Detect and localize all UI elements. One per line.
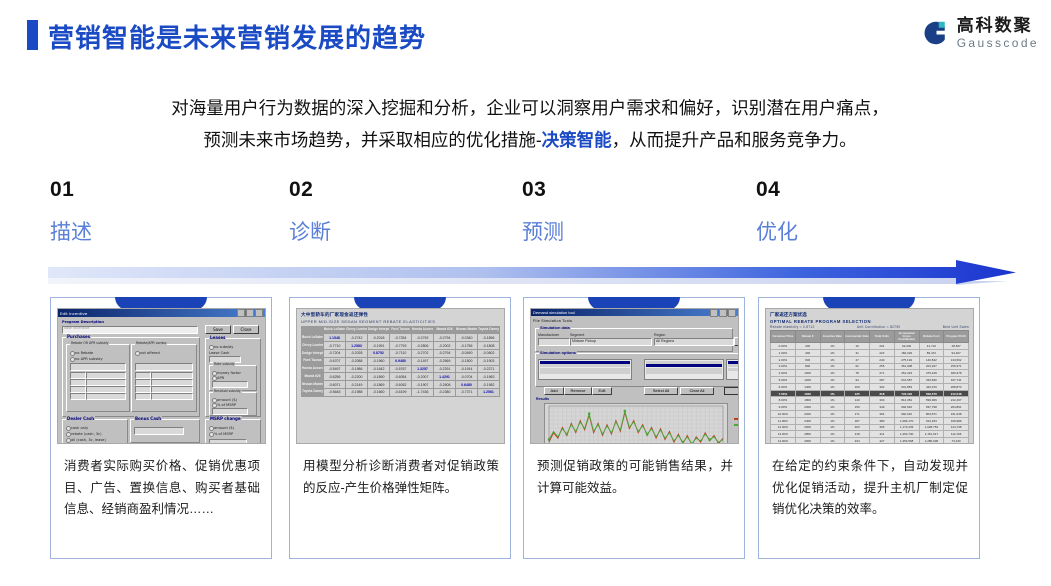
column-header: Customer Price xyxy=(771,331,796,343)
cell: 1,263,700 xyxy=(894,431,919,438)
group-msrp-change: MSRP change xyxy=(209,416,242,421)
cell: 1.3257 xyxy=(412,365,434,373)
step-03: 03 预测 xyxy=(522,178,742,246)
cell: 318 xyxy=(870,390,895,397)
cell: 200 xyxy=(795,343,820,350)
table-title-en: UPPER MID-SIZE SEDAN SEGMENT REBATE ELAS… xyxy=(301,319,500,324)
cell: 134,502 xyxy=(944,356,969,363)
cell: -0.2702 xyxy=(412,350,434,358)
table-row[interactable]: 4.00%10001%78271451,323275,449180,378 xyxy=(771,370,969,377)
column-header: Dodge Intrepid xyxy=(368,327,390,334)
cell: 1.2583 xyxy=(346,342,368,350)
cell: 1000 xyxy=(795,370,820,377)
cell: 2.00% xyxy=(771,356,796,363)
cell: 1% xyxy=(820,390,845,397)
cell: 3.00% xyxy=(771,363,796,370)
cell: -1.7436 xyxy=(412,388,434,396)
window-buttons xyxy=(237,309,263,317)
label-manufacturer: Manufacturer xyxy=(538,333,559,337)
cell: 125 xyxy=(845,390,870,397)
step-label: 优化 xyxy=(756,216,976,246)
cell: 5.00% xyxy=(771,377,796,384)
cell: -0.7710 xyxy=(324,342,346,350)
cell: 169,986 xyxy=(944,417,969,424)
input-program-description[interactable]: New incentive xyxy=(64,326,89,330)
cell: -0.2002 xyxy=(434,342,456,350)
row-header: Honda Accord xyxy=(302,365,324,373)
cell: 13.00% xyxy=(771,431,796,438)
column-header: Chevy Lumina xyxy=(346,327,368,334)
cell: 140,842 xyxy=(919,356,944,363)
window-buttons xyxy=(710,309,736,317)
cell: -0.1890 xyxy=(368,373,390,381)
cell: -0.1988 xyxy=(346,388,368,396)
cell: -0.7793 xyxy=(390,342,412,350)
cell: 234 xyxy=(845,438,870,444)
paragraph-highlight: 决策智能 xyxy=(542,130,612,150)
cell: -0.2742 xyxy=(346,334,368,342)
row-header: Dodge Intrepid xyxy=(302,350,324,358)
group-leases: Leases xyxy=(209,335,226,340)
remove-button[interactable]: Remove xyxy=(564,387,592,395)
cell: 1,280,938 xyxy=(919,438,944,444)
cell: 1% xyxy=(820,343,845,350)
table-row: Mazda 626-0.6256-0.2200-0.1890-0.6054-0.… xyxy=(302,373,500,381)
cell: -0.6256 xyxy=(324,373,346,381)
gausscode-logo-icon xyxy=(920,18,950,48)
intro-paragraph: 对海量用户行为数据的深入挖掘和分析，企业可以洞察用户需求和偏好，识别潜在用户痛点… xyxy=(50,92,1010,157)
optimal-rebate-table: Customer PriceRebate $Incentive RateIncr… xyxy=(770,330,969,444)
cell: 203 xyxy=(845,424,870,431)
cell: 8.00% xyxy=(771,397,796,404)
cell: -0.0490 xyxy=(456,350,478,358)
cell: -0.2669 xyxy=(434,357,456,365)
table-row: Chevy Lumina-0.77101.2583-0.1991-0.7793-… xyxy=(302,342,500,350)
table-row[interactable]: 12.00%26001%2033951,173,4391,028,753144,… xyxy=(771,424,969,431)
row-header: Toyota Camry xyxy=(302,388,324,396)
select-all-button[interactable]: Select All xyxy=(644,387,678,395)
cell: 156 xyxy=(845,404,870,411)
cell: 275,194 xyxy=(894,356,919,363)
clear-all-button[interactable]: Clear All xyxy=(680,387,714,395)
progress-arrow xyxy=(48,260,1016,286)
cell: 92,240 xyxy=(894,343,919,350)
card-optimize[interactable]: 厂家返还方案优选 OPTIMAL REBATE PROGRAM SELECTIO… xyxy=(758,297,980,559)
cell: 1% xyxy=(820,370,845,377)
screenshot-edit-incentive: Edit incentive Program Description New i… xyxy=(57,308,266,444)
cell: 302 xyxy=(870,383,895,390)
cell: 600 xyxy=(795,356,820,363)
cell: -0.1963 xyxy=(478,373,500,381)
step-01: 01 描述 xyxy=(50,178,270,246)
cell: 1200 xyxy=(795,377,820,384)
cell: 697,798 xyxy=(919,404,944,411)
cell: -0.6707 xyxy=(324,357,346,365)
cell: -0.1986 xyxy=(346,365,368,373)
table-row[interactable]: 0.00%2001%1020192,24041,71048,847 xyxy=(771,343,969,350)
step-label: 诊断 xyxy=(289,216,509,246)
cell: -0.1907 xyxy=(412,381,434,389)
group-rebate-apr-combo: Rebate/APR combo xyxy=(135,341,167,345)
meta-elasticity: Rebate elasticity = 0.8712 xyxy=(770,325,815,329)
cell: 109 xyxy=(845,383,870,390)
value-region[interactable]: All Regions xyxy=(656,339,674,343)
cell: 275,449 xyxy=(919,370,944,377)
group-simulation-data: Simulation data xyxy=(539,325,571,330)
cell: 1% xyxy=(820,404,845,411)
paragraph-line-2a: 预测未来市场趋势，并采取相应的优化措施- xyxy=(203,130,541,150)
table-row: Toyota Camry-0.5645-0.1988-0.1660-0.6199… xyxy=(302,388,500,396)
cell: 2400 xyxy=(795,417,820,424)
cell: 204,861 xyxy=(944,404,969,411)
screenshot-optimal-rebate: 厂家返还方案优选 OPTIMAL REBATE PROGRAM SELECTIO… xyxy=(765,308,974,444)
cell: 48,847 xyxy=(944,343,969,350)
cell: 395 xyxy=(870,424,895,431)
cell: 89,472 xyxy=(919,349,944,356)
cell: -0.1914 xyxy=(456,365,478,373)
cell: 913,184 xyxy=(919,417,944,424)
cell: 12.00% xyxy=(771,424,796,431)
cell: -0.2018 xyxy=(368,334,390,342)
table-row: Dodge Intrepid-0.7204-0.20280.8752-0.711… xyxy=(302,350,500,358)
label-program-description: Program Description xyxy=(62,320,104,324)
group-residual-subsidy: Residual subsidy xyxy=(213,389,242,393)
table-row[interactable]: 7.00%16001%125318722,118509,570212,548 xyxy=(771,390,969,397)
table-row: Nissan Maxima-0.6071-0.2149-0.1869-0.605… xyxy=(302,381,500,389)
table-row[interactable]: 1.00%4001%31224182,02989,47294,407 xyxy=(771,349,969,356)
column-header: Nissan Maxima xyxy=(456,327,478,334)
cell: -0.1903 xyxy=(478,357,500,365)
cell: 1% xyxy=(820,424,845,431)
table-row[interactable]: 9.00%20001%156349902,640697,798204,861 xyxy=(771,404,969,411)
cell: -0.1642 xyxy=(368,365,390,373)
logo-text-en: Gausscode xyxy=(957,37,1039,49)
cell: 2000 xyxy=(795,404,820,411)
column-header: Incremental Units xyxy=(845,331,870,343)
step-02: 02 诊断 xyxy=(289,178,509,246)
group-dealer-cash: Dealer Cash xyxy=(66,416,95,421)
cell: 1.1548 xyxy=(324,334,346,342)
column-header: Incremental Gross Contribution xyxy=(894,331,919,343)
table-row: Buick LeSabre1.1548-0.2742-0.2018-0.7254… xyxy=(302,334,500,342)
card-caption: 在给定的约束条件下，自动发现并优化促销活动，提升主机厂制定促销优化决策的效率。 xyxy=(772,456,968,521)
column-header: Total Units xyxy=(870,331,895,343)
paragraph-line-2b: ，从而提升产品和服务竞争力。 xyxy=(612,130,857,150)
table-row[interactable]: 5.00%12001%94287541,587343,846197,741 xyxy=(771,377,969,384)
column-header: Incentive Rate xyxy=(820,331,845,343)
cell: -0.2794 xyxy=(434,334,456,342)
table-row: Honda Accord-0.5497-0.1986-0.1642-0.5767… xyxy=(302,365,500,373)
cell: 31 xyxy=(845,349,870,356)
meta-contribution: Unit Contribution = $2790 xyxy=(857,325,901,329)
column-header: Ford Taurus xyxy=(390,327,412,334)
cell: 803,871 xyxy=(919,411,944,418)
cell: 255 xyxy=(870,363,895,370)
table-row: Ford Taurus-0.6707-0.2088-0.19600.9480-0… xyxy=(302,357,500,365)
cell: 2200 xyxy=(795,411,820,418)
cell: -0.2028 xyxy=(346,350,368,358)
cell: -0.2200 xyxy=(346,373,368,381)
cell: -0.2007 xyxy=(412,373,434,381)
cell: 240 xyxy=(870,356,895,363)
cell: 800 xyxy=(795,363,820,370)
cell: 1% xyxy=(820,363,845,370)
add-button[interactable]: Add xyxy=(544,387,564,395)
cell: 10.00% xyxy=(771,411,796,418)
cell: 197,741 xyxy=(944,377,969,384)
cell: 0.8752 xyxy=(368,350,390,358)
screenshot-rebate-elasticities: 大中型轿车的厂家现金返还弹性 UPPER MID-SIZE SEDAN SEGM… xyxy=(296,308,505,444)
save-button[interactable]: Save xyxy=(734,337,739,346)
group-rate-subsidy: Rate subsidy xyxy=(213,362,235,366)
cell: 364 xyxy=(870,411,895,418)
cell: 1,083,170 xyxy=(894,417,919,424)
step-04: 04 优化 xyxy=(756,178,976,246)
save-button[interactable]: Save xyxy=(205,325,231,334)
column-header: Toyota Camry xyxy=(478,327,500,334)
cell: -0.1960 xyxy=(368,357,390,365)
cell: 9.00% xyxy=(771,404,796,411)
cell: 156,971 xyxy=(944,363,969,370)
cell: 11.00% xyxy=(771,417,796,424)
label-segment: Segment xyxy=(570,333,584,337)
cell: 1% xyxy=(820,431,845,438)
table-row[interactable]: 8.00%18001%140333812,381599,906212,467 xyxy=(771,397,969,404)
row-header: Ford Taurus xyxy=(302,357,324,365)
cell: 144,738 xyxy=(944,424,969,431)
card-caption: 预测促销政策的可能销售结果，并计算可能效益。 xyxy=(537,456,733,499)
cell: 509,570 xyxy=(919,390,944,397)
cell: -0.0704 xyxy=(456,373,478,381)
menu-bar[interactable]: File Simulation Tools xyxy=(533,319,572,323)
cell: 1,353,968 xyxy=(894,438,919,444)
cell: 541,587 xyxy=(894,377,919,384)
cell: -0.6199 xyxy=(390,388,412,396)
logo-text-cn: 高科数聚 xyxy=(957,17,1039,34)
cell: 191,038 xyxy=(944,411,969,418)
step-number: 02 xyxy=(289,178,509,202)
cell: 94,407 xyxy=(944,349,969,356)
group-rebate-apr: Rebate OR APR subsidy xyxy=(70,341,109,345)
cell: 722,118 xyxy=(894,390,919,397)
company-logo: 高科数聚 Gausscode xyxy=(920,17,1039,49)
cell: -0.5767 xyxy=(390,365,412,373)
label-region: Region xyxy=(654,333,665,337)
cell: 1% xyxy=(820,356,845,363)
table-row[interactable]: 14.00%30001%2344271,353,9681,280,93873,4… xyxy=(771,438,969,444)
cell: 218 xyxy=(845,431,870,438)
step-number: 04 xyxy=(756,178,976,202)
cell: 451,323 xyxy=(894,370,919,377)
chart-legend: Dodge Dakota est Dodge Dakota actual xyxy=(734,417,739,428)
cell: 78 xyxy=(845,370,870,377)
cell: 0.9480 xyxy=(390,357,412,365)
value-segment[interactable]: Midsize Pickup xyxy=(572,339,596,343)
table-row[interactable]: 13.00%28001%2184111,263,7001,151,917112,… xyxy=(771,431,969,438)
window-title: Edit incentive xyxy=(60,311,87,316)
group-bonus-cash: Bonus Cash xyxy=(134,416,162,421)
step-number: 01 xyxy=(50,178,270,202)
cell: -0.6054 xyxy=(390,373,412,381)
cell: 1% xyxy=(820,411,845,418)
cell: 47 xyxy=(845,356,870,363)
cell: -0.1500 xyxy=(456,357,478,365)
cell: -0.6071 xyxy=(324,381,346,389)
cell: 1.4291 xyxy=(434,373,456,381)
cell: 411 xyxy=(870,431,895,438)
cell: 1% xyxy=(820,349,845,356)
label-results: Results xyxy=(536,397,549,401)
column-header: Honda Accord xyxy=(412,327,434,334)
cell: -0.5497 xyxy=(324,365,346,373)
cell: 182,029 xyxy=(894,349,919,356)
cell: 2600 xyxy=(795,424,820,431)
cell: -0.2794 xyxy=(434,350,456,358)
cell: 343,846 xyxy=(919,377,944,384)
cell: 41,710 xyxy=(919,343,944,350)
card-describe[interactable]: Edit incentive Program Description New i… xyxy=(50,297,272,559)
elasticity-matrix: Buick LeSabreChevy LuminaDodge IntrepidF… xyxy=(301,326,500,397)
cell: 3000 xyxy=(795,438,820,444)
cell: 631,853 xyxy=(894,383,919,390)
table-title-en: OPTIMAL REBATE PROGRAM SELECTION xyxy=(770,319,969,324)
cell: 0.00% xyxy=(771,343,796,350)
row-header: Chevy Lumina xyxy=(302,342,324,350)
cell: 1800 xyxy=(795,397,820,404)
page-header: 营销智能是未来营销发展的趋势 高科数聚 Gausscode xyxy=(0,0,1051,72)
cell: -0.2608 xyxy=(434,381,456,389)
group-simulation-options: Simulation options xyxy=(539,350,577,355)
cell: -0.2271 xyxy=(478,365,500,373)
card-caption: 用模型分析诊断消费者对促销政策的反应-产生价格弹性矩阵。 xyxy=(303,456,499,499)
cell: 187 xyxy=(845,417,870,424)
row-header: Nissan Maxima xyxy=(302,381,324,389)
cell: -0.1497 xyxy=(412,357,434,365)
row-header: Mazda 626 xyxy=(302,373,324,381)
cell: 380 xyxy=(870,417,895,424)
cell: 171 xyxy=(845,411,870,418)
cell: -0.1808 xyxy=(478,342,500,350)
cell: 224 xyxy=(870,349,895,356)
cell: 1.2561 xyxy=(478,388,500,396)
paragraph-line-1: 对海量用户行为数据的深入挖掘和分析，企业可以洞察用户需求和偏好，识别潜在用户痛点… xyxy=(171,98,889,118)
cell: -0.7371 xyxy=(456,388,478,396)
cell: 1.00% xyxy=(771,349,796,356)
cell: 1% xyxy=(820,397,845,404)
cell: -0.1991 xyxy=(368,342,390,350)
step-number: 03 xyxy=(522,178,742,202)
cell: -0.2806 xyxy=(412,342,434,350)
row-header: Buick LeSabre xyxy=(302,334,324,342)
cell: -0.0340 xyxy=(456,334,478,342)
cell: 2800 xyxy=(795,431,820,438)
cell: -0.0602 xyxy=(478,350,500,358)
step-list: 01 描述 02 诊断 03 预测 04 优化 xyxy=(50,178,1010,248)
cell: 112,166 xyxy=(944,431,969,438)
group-purchases: Purchases xyxy=(66,334,91,339)
card-predict[interactable]: Demand simulation tool File Simulation T… xyxy=(523,297,745,559)
page-title: 营销智能是未来营销发展的趋势 xyxy=(48,18,426,55)
cell: 4.00% xyxy=(771,370,796,377)
cell: 1600 xyxy=(795,390,820,397)
cell: 1% xyxy=(820,417,845,424)
card-caption: 消费者实际购买价格、促销优惠项目、广告、置换信息、购买者基础信息、经销商盈利情况… xyxy=(64,456,260,521)
edit-button[interactable]: Edit xyxy=(592,387,612,395)
meta-best-unit-sales: Best Unit Sales xyxy=(943,325,969,329)
cell: 812,381 xyxy=(894,397,919,404)
cell: -0.1756 xyxy=(456,342,478,350)
cell: 1% xyxy=(820,438,845,444)
cell: 208,873 xyxy=(944,383,969,390)
cell: 180,378 xyxy=(944,370,969,377)
cell: 62 xyxy=(845,363,870,370)
cell: 1% xyxy=(820,377,845,384)
cell: 422,970 xyxy=(919,383,944,390)
cell: 73,430 xyxy=(944,438,969,444)
cell: 212,548 xyxy=(944,390,969,397)
cell: -0.7110 xyxy=(390,350,412,358)
cell: 333 xyxy=(870,397,895,404)
cell: -0.2149 xyxy=(346,381,368,389)
window-title: Demand simulation tool xyxy=(533,310,575,315)
card-diagnose[interactable]: 大中型轿车的厂家现金返还弹性 UPPER MID-SIZE SEDAN SEGM… xyxy=(289,297,511,559)
column-header: Mazda 626 xyxy=(434,327,456,334)
table-row[interactable]: 3.00%8001%62255361,008204,207156,971 xyxy=(771,363,969,370)
cell: -0.1869 xyxy=(368,381,390,389)
cell: 361,008 xyxy=(894,363,919,370)
cell: 201 xyxy=(870,343,895,350)
cell: 14.00% xyxy=(771,438,796,444)
cell: 349 xyxy=(870,404,895,411)
cell: 1,151,917 xyxy=(919,431,944,438)
close-button[interactable]: Close xyxy=(233,325,259,334)
column-header: Rebate Cost xyxy=(919,331,944,343)
table-row[interactable]: 11.00%24001%1873801,083,170913,184169,98… xyxy=(771,417,969,424)
cell: -0.1660 xyxy=(368,388,390,396)
simulation-chart xyxy=(544,403,728,444)
table-title-cn: 大中型轿车的厂家现金返还弹性 xyxy=(301,312,500,318)
table-row[interactable]: 6.00%14001%109302631,853422,970208,873 xyxy=(771,383,969,390)
cell: -0.5645 xyxy=(324,388,346,396)
cell: -0.1982 xyxy=(478,381,500,389)
title-accent-bar xyxy=(27,20,38,50)
card-row: Edit incentive Program Description New i… xyxy=(50,297,1010,562)
cell: 7.00% xyxy=(771,390,796,397)
cell: 400 xyxy=(795,349,820,356)
step-label: 预测 xyxy=(522,216,742,246)
table-title-cn: 厂家返还方案优选 xyxy=(770,312,969,318)
cell: -0.6052 xyxy=(390,381,412,389)
table-row[interactable]: 10.00%22001%171364992,910803,871191,038 xyxy=(771,411,969,418)
table-row[interactable]: 2.00%6001%47240275,194140,842134,502 xyxy=(771,356,969,363)
cell: 1400 xyxy=(795,383,820,390)
cell: 94 xyxy=(845,377,870,384)
cell: 271 xyxy=(870,370,895,377)
cell: 1% xyxy=(820,383,845,390)
cell: -0.2380 xyxy=(434,388,456,396)
cell: 1,173,439 xyxy=(894,424,919,431)
column-header: Buick LeSabre xyxy=(324,327,346,334)
cell: -0.2291 xyxy=(434,365,456,373)
cell: -0.7204 xyxy=(324,350,346,358)
column-header: Rebate $ xyxy=(795,331,820,343)
cell: 204,207 xyxy=(919,363,944,370)
graph-button[interactable]: Graph xyxy=(724,387,739,395)
cell: -0.1896 xyxy=(478,334,500,342)
cell: 992,910 xyxy=(894,411,919,418)
cell: 140 xyxy=(845,397,870,404)
cell: 427 xyxy=(870,438,895,444)
